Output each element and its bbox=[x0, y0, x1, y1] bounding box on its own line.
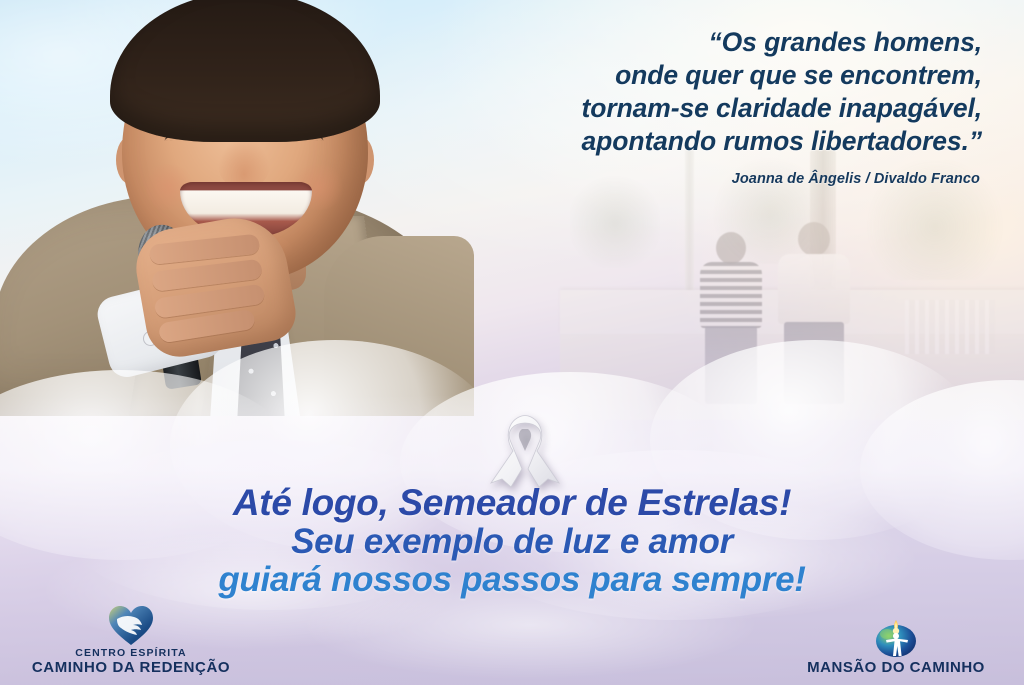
headline-line-2: Seu exemplo de luz e amor bbox=[0, 523, 1024, 561]
logo-left-text: CENTRO ESPÍRITA CAMINHO DA REDENÇÃO bbox=[32, 648, 230, 677]
quote-attribution: Joanna de Ângelis / Divaldo Franco bbox=[732, 171, 980, 187]
scene-figure-white-shirt bbox=[778, 226, 850, 404]
figure-legs bbox=[705, 326, 757, 404]
headline-message: Até logo, Semeador de Estrelas! Seu exem… bbox=[0, 483, 1024, 599]
figure-head bbox=[716, 232, 746, 264]
heart-hand-svg bbox=[108, 605, 154, 647]
figure-torso bbox=[700, 262, 762, 328]
portrait-hair bbox=[110, 0, 380, 142]
figure-torso bbox=[778, 254, 850, 324]
logo-centro-espirita-caminho-da-redencao[interactable]: CENTRO ESPÍRITA CAMINHO DA REDENÇÃO bbox=[6, 604, 256, 677]
logo-left-main-label: CAMINHO DA REDENÇÃO bbox=[32, 660, 230, 677]
scene-figure-striped-shirt bbox=[700, 234, 762, 404]
globe-figure-flame-svg bbox=[873, 616, 919, 660]
background-scene bbox=[560, 150, 1024, 420]
quote-line-3: tornam-se claridade inapagável, bbox=[342, 92, 982, 125]
headline-line-3: guiará nossos passos para sempre! bbox=[0, 561, 1024, 599]
white-mourning-ribbon-icon bbox=[489, 413, 561, 489]
quote-line-2: onde quer que se encontrem, bbox=[342, 59, 982, 92]
quote-line-1: “Os grandes homens, bbox=[342, 26, 982, 59]
logo-mansao-do-caminho[interactable]: MANSÃO DO CAMINHO bbox=[776, 616, 1016, 677]
heart-hand-icon bbox=[108, 604, 154, 648]
portrait-arm-right bbox=[324, 236, 474, 416]
memorial-poster: “Os grandes homens, onde quer que se enc… bbox=[0, 0, 1024, 685]
quote-line-4: apontando rumos libertadores.” bbox=[342, 125, 982, 158]
headline-line-1: Até logo, Semeador de Estrelas! bbox=[0, 483, 1024, 523]
ribbon-svg bbox=[489, 413, 561, 489]
globe-figure-flame-icon bbox=[873, 616, 919, 660]
logo-right-main-label: MANSÃO DO CAMINHO bbox=[807, 660, 985, 677]
scene-railing bbox=[905, 300, 995, 354]
logo-right-text: MANSÃO DO CAMINHO bbox=[807, 660, 985, 677]
scene-foliage bbox=[570, 168, 660, 268]
figure-head bbox=[798, 222, 830, 256]
quote-text: “Os grandes homens, onde quer que se enc… bbox=[342, 26, 982, 158]
figure-legs bbox=[784, 322, 844, 404]
scene-lamp-post bbox=[685, 150, 694, 300]
